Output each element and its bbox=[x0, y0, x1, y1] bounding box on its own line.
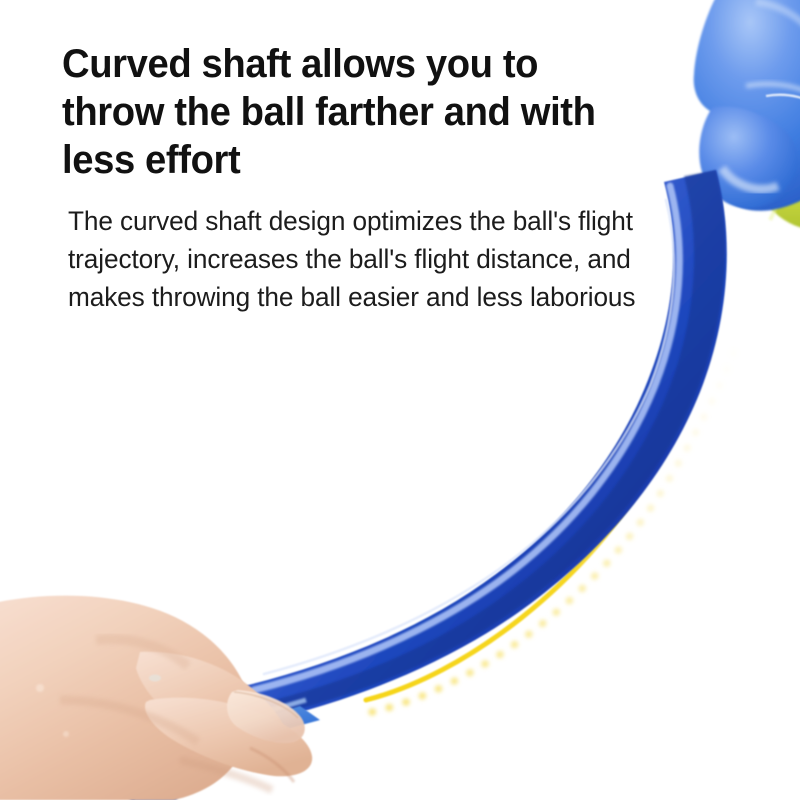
hand-gripping-handle bbox=[0, 596, 312, 800]
body-description: The curved shaft design optimizes the ba… bbox=[68, 202, 650, 316]
product-feature-banner: Curved shaft allows you to throw the bal… bbox=[0, 0, 800, 800]
page-title: Curved shaft allows you to throw the bal… bbox=[62, 40, 645, 184]
copy-block: Curved shaft allows you to throw the bal… bbox=[62, 40, 672, 316]
